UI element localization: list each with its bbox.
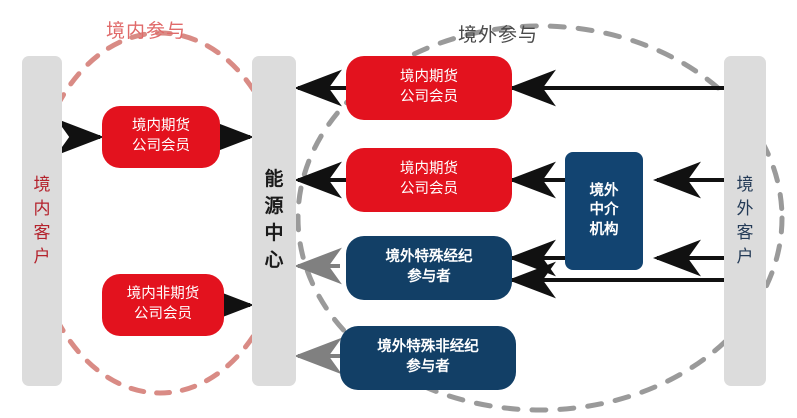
pillar-domestic-customers[interactable]: 境 内 客 户 — [22, 56, 62, 386]
node-domestic-futures-member-row2-label: 境内期货 公司会员 — [400, 160, 458, 199]
diagram-canvas: 境内参与 境外参与 境 内 客 户 能 源 中 心 境 外 客 户 境内期货 公… — [0, 0, 797, 418]
node-line-1: 境外特殊非经纪 — [377, 338, 479, 358]
pillar-domestic-customers-label: 境 内 客 户 — [34, 173, 51, 270]
domestic-participation-boundary — [32, 33, 288, 393]
node-line-1: 境内期货 — [132, 117, 190, 137]
node-line-3: 机构 — [590, 221, 619, 241]
pillar-overseas-customers[interactable]: 境 外 客 户 — [724, 56, 766, 386]
node-line-1: 境内非期货 — [127, 285, 200, 305]
pillar-center-char-1: 能 — [264, 167, 283, 194]
pillar-energy-center-label: 能 源 中 心 — [264, 167, 283, 275]
node-overseas-special-nonbroker[interactable]: 境外特殊非经纪 参与者 — [340, 326, 516, 390]
pillar-domestic-char-2: 内 — [34, 197, 51, 221]
node-domestic-nonfutures-member[interactable]: 境内非期货 公司会员 — [102, 274, 224, 336]
pillar-center-char-3: 中 — [264, 221, 283, 248]
node-line-2: 参与者 — [377, 358, 479, 378]
pillar-energy-center[interactable]: 能 源 中 心 — [252, 56, 296, 386]
node-overseas-intermediary-label: 境外 中介 机构 — [590, 182, 619, 241]
node-overseas-special-broker[interactable]: 境外特殊经纪 参与者 — [346, 236, 512, 300]
pillar-overseas-char-4: 户 — [737, 245, 754, 269]
node-line-2: 公司会员 — [400, 180, 458, 200]
pillar-overseas-customers-label: 境 外 客 户 — [737, 173, 754, 270]
pillar-overseas-char-2: 外 — [737, 197, 754, 221]
region-label-domestic: 境内参与 — [106, 16, 186, 43]
node-line-1: 境内期货 — [400, 68, 458, 88]
node-line-1: 境内期货 — [400, 160, 458, 180]
pillar-domestic-char-1: 境 — [34, 173, 51, 197]
node-overseas-special-broker-label: 境外特殊经纪 参与者 — [386, 248, 473, 287]
region-label-overseas: 境外参与 — [458, 20, 538, 47]
node-line-1: 境外 — [590, 182, 619, 202]
node-domestic-futures-member-row2[interactable]: 境内期货 公司会员 — [346, 148, 512, 212]
node-domestic-futures-member-row1[interactable]: 境内期货 公司会员 — [346, 56, 512, 120]
pillar-domestic-char-3: 客 — [34, 221, 51, 245]
node-overseas-special-nonbroker-label: 境外特殊非经纪 参与者 — [377, 338, 479, 377]
pillar-domestic-char-4: 户 — [34, 245, 51, 269]
node-line-2: 中介 — [590, 201, 619, 221]
node-line-2: 公司会员 — [132, 137, 190, 157]
node-line-2: 参与者 — [386, 268, 473, 288]
pillar-overseas-char-3: 客 — [737, 221, 754, 245]
pillar-overseas-char-1: 境 — [737, 173, 754, 197]
node-domestic-futures-member-row1-label: 境内期货 公司会员 — [400, 68, 458, 107]
node-overseas-intermediary[interactable]: 境外 中介 机构 — [565, 152, 643, 270]
node-domestic-futures-member-left[interactable]: 境内期货 公司会员 — [102, 106, 220, 168]
node-line-1: 境外特殊经纪 — [386, 248, 473, 268]
node-line-2: 公司会员 — [127, 305, 200, 325]
node-line-2: 公司会员 — [400, 88, 458, 108]
node-domestic-nonfutures-member-label: 境内非期货 公司会员 — [127, 285, 200, 324]
node-domestic-futures-member-left-label: 境内期货 公司会员 — [132, 117, 190, 156]
pillar-center-char-4: 心 — [264, 248, 283, 275]
pillar-center-char-2: 源 — [264, 194, 283, 221]
